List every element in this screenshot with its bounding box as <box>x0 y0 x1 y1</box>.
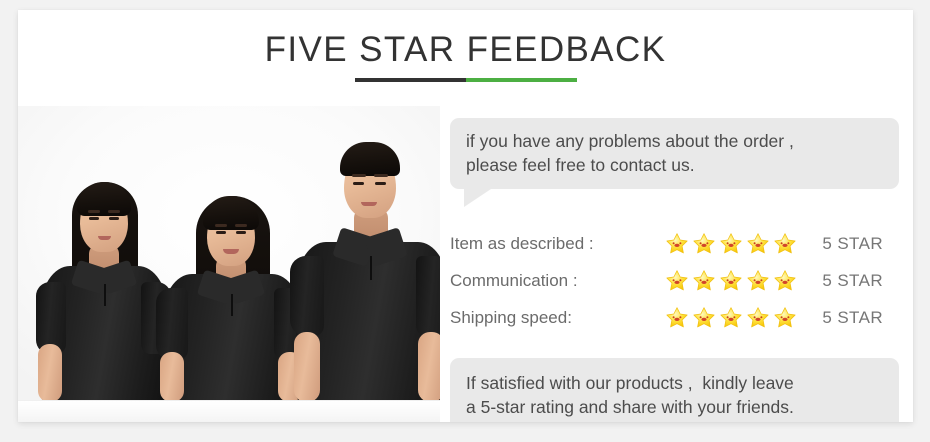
staff-photo <box>18 106 440 422</box>
staff-person-center <box>156 156 306 402</box>
hair-top-right <box>340 142 400 176</box>
satisfaction-message-line-1: If satisfied with our products , kindly … <box>466 371 885 395</box>
star-icon <box>746 306 770 330</box>
rating-row: Item as described : 5 STAR <box>450 225 905 262</box>
placket-left <box>104 284 106 306</box>
divider-dark-segment <box>355 78 466 82</box>
star-icon <box>719 269 743 293</box>
star-icon <box>773 232 797 256</box>
arm-right-b <box>418 332 440 402</box>
sleeve-center-a <box>156 288 188 360</box>
feedback-card: FIVE STAR FEEDBACK <box>18 10 913 422</box>
placket-right <box>370 256 372 280</box>
arm-center-a <box>160 352 184 402</box>
brow-center-a <box>215 224 227 227</box>
rating-value-shipping-speed: 5 STAR <box>802 308 905 328</box>
feedback-content: if you have any problems about the order… <box>450 106 905 422</box>
sleeve-right-a <box>290 256 324 336</box>
divider-green-segment <box>466 78 577 82</box>
brow-right-a <box>352 174 366 177</box>
rating-value-communication: 5 STAR <box>802 271 905 291</box>
satisfaction-message-line-2: a 5-star rating and share with your frie… <box>466 395 885 419</box>
brow-center-b <box>235 224 247 227</box>
brow-left-a <box>88 210 100 213</box>
mouth-right <box>361 202 377 206</box>
star-icon <box>692 306 716 330</box>
title-divider <box>355 78 577 82</box>
brow-right-b <box>374 174 388 177</box>
header: FIVE STAR FEEDBACK <box>18 28 913 72</box>
arm-right-a <box>294 332 320 402</box>
star-icon <box>746 269 770 293</box>
bubble-tail-icon <box>464 187 494 207</box>
rating-label-item-as-described: Item as described : <box>450 234 665 254</box>
rating-label-shipping-speed: Shipping speed: <box>450 308 665 328</box>
arm-left <box>38 344 62 402</box>
counter-edge <box>18 400 440 422</box>
contact-message-line-1: if you have any problems about the order… <box>466 129 885 153</box>
ratings-list: Item as described : 5 STAR Communication… <box>450 225 905 336</box>
star-rating-shipping-speed <box>665 306 802 330</box>
eye-right-b <box>375 182 386 185</box>
star-icon <box>692 269 716 293</box>
eye-left-a <box>89 217 99 220</box>
sleeve-right-b <box>416 256 440 336</box>
star-icon <box>773 269 797 293</box>
eye-right-a <box>353 182 364 185</box>
star-rating-communication <box>665 269 802 293</box>
satisfaction-message-bubble: If satisfied with our products , kindly … <box>450 358 899 422</box>
rating-label-communication: Communication : <box>450 271 665 291</box>
star-rating-item-as-described <box>665 232 802 256</box>
staff-person-left <box>36 152 171 402</box>
star-icon <box>719 232 743 256</box>
feedback-banner: FIVE STAR FEEDBACK <box>0 0 930 442</box>
staff-person-right <box>290 122 440 402</box>
rating-value-item-as-described: 5 STAR <box>802 234 905 254</box>
mouth-center <box>223 249 239 254</box>
brow-left-b <box>108 210 120 213</box>
star-icon <box>773 306 797 330</box>
rating-row: Communication : 5 STAR <box>450 262 905 299</box>
contact-message-line-2: please feel free to contact us. <box>466 153 885 177</box>
star-icon <box>719 306 743 330</box>
mouth-left <box>98 236 111 240</box>
rating-row: Shipping speed: 5 STAR <box>450 299 905 336</box>
eye-center-b <box>236 231 246 234</box>
contact-message-bubble: if you have any problems about the order… <box>450 118 899 189</box>
star-icon <box>665 232 689 256</box>
eye-center-a <box>216 231 226 234</box>
star-icon <box>665 269 689 293</box>
star-icon <box>746 232 770 256</box>
page-title: FIVE STAR FEEDBACK <box>18 28 913 72</box>
star-icon <box>692 232 716 256</box>
eye-left-b <box>109 217 119 220</box>
placket-center <box>231 294 233 316</box>
star-icon <box>665 306 689 330</box>
